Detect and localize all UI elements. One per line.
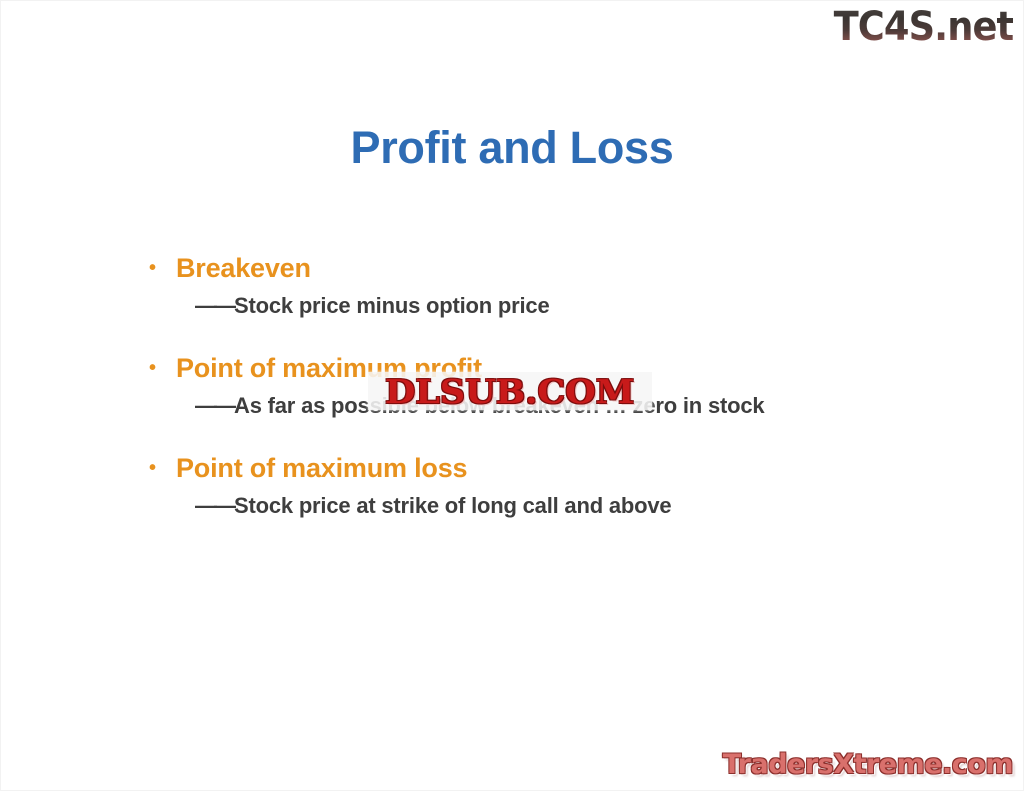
bullet-group: • Point of maximum loss —— Stock price a…: [149, 451, 963, 521]
bullet-level1-label: Point of maximum loss: [176, 451, 467, 485]
dlsub-watermark-text: DLSUB.COM: [385, 375, 634, 408]
bullet-dot-icon: •: [149, 451, 176, 485]
tc4s-site-logo: TC4S.net: [833, 5, 1013, 49]
bullet-item-level1: • Breakeven: [149, 251, 963, 285]
bullet-item-level2: —— Stock price minus option price: [195, 291, 963, 321]
group-spacer: [149, 437, 963, 451]
em-dash-icon: ——: [195, 291, 233, 321]
bullet-level2-label: Stock price at strike of long call and a…: [234, 491, 671, 521]
dlsub-watermark: DLSUB.COM: [368, 372, 652, 410]
bullet-dot-icon: •: [149, 351, 176, 385]
bullet-item-level1: • Point of maximum loss: [149, 451, 963, 485]
slide-title: Profit and Loss: [1, 121, 1023, 175]
bullet-level2-label: Stock price minus option price: [234, 291, 550, 321]
presentation-slide: TC4S.net Profit and Loss • Breakeven —— …: [0, 0, 1024, 791]
bullet-group: • Breakeven —— Stock price minus option …: [149, 251, 963, 321]
em-dash-icon: ——: [195, 391, 233, 421]
bullet-dot-icon: •: [149, 251, 176, 285]
bullet-level1-label: Breakeven: [176, 251, 311, 285]
tradersxtreme-brand-logo: TradersXtreme.com: [723, 749, 1013, 781]
em-dash-icon: ——: [195, 491, 233, 521]
bullet-item-level2: —— Stock price at strike of long call an…: [195, 491, 963, 521]
group-spacer: [149, 337, 963, 351]
